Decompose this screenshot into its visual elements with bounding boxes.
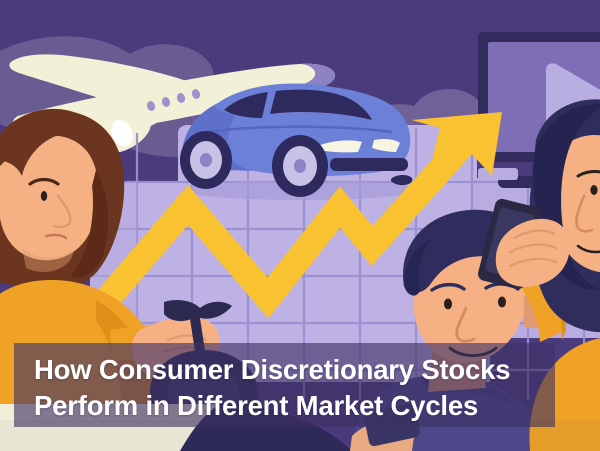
hero-banner: How Consumer Discretionary Stocks Perfor… xyxy=(0,0,600,451)
woman-hijab-eye xyxy=(590,185,597,195)
title-line-1: How Consumer Discretionary Stocks xyxy=(34,352,535,388)
car-wheel-front xyxy=(272,135,328,197)
man-eye-left xyxy=(444,299,452,310)
man-eye-right xyxy=(498,297,506,308)
car-wheel-rear xyxy=(180,131,232,189)
woman-driver-eye xyxy=(41,191,47,201)
title-overlay: How Consumer Discretionary Stocks Perfor… xyxy=(14,343,555,427)
title-line-2: Perform in Different Market Cycles xyxy=(34,388,535,424)
